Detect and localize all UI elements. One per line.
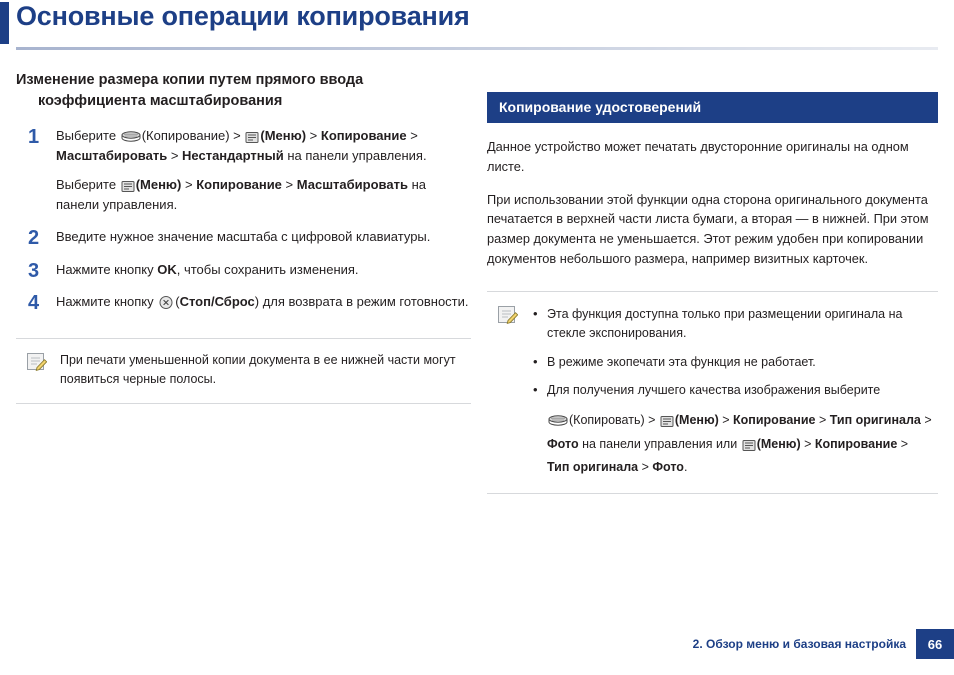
- right-note-path: (Копировать) > (Меню) > Копирование > Ти…: [547, 409, 932, 478]
- copy-icon: [548, 415, 568, 428]
- step-4: 4 Нажмите кнопку (Стоп/Сброс) для возвра…: [16, 292, 471, 312]
- step-number: 4: [28, 288, 39, 318]
- step-2: 2 Введите нужное значение масштаба с циф…: [16, 227, 471, 247]
- menu-icon: [245, 131, 259, 144]
- step-text: >: [181, 177, 196, 192]
- left-note-text: При печати уменьшенной копии документа в…: [60, 353, 456, 386]
- page-header: Основные операции копирования: [0, 0, 954, 56]
- path-text: >: [921, 413, 932, 427]
- step-text: Нажмите кнопку: [56, 294, 157, 309]
- page-title: Основные операции копирования: [16, 1, 470, 32]
- step-bold: Стоп/Сброс: [180, 294, 255, 309]
- section-subheading: Изменение размера копии путем прямого вв…: [16, 70, 471, 112]
- path-bold: Фото: [547, 437, 579, 451]
- right-paragraph-1: Данное устройство может печатать двустор…: [487, 137, 938, 177]
- step-3: 3 Нажмите кнопку OK, чтобы сохранить изм…: [16, 260, 471, 280]
- path-text: (Копировать) >: [569, 413, 659, 427]
- path-text: >: [815, 413, 829, 427]
- path-text: >: [638, 460, 652, 474]
- note-pencil-icon: [26, 351, 47, 378]
- note-pencil-icon: [497, 304, 518, 331]
- menu-icon: [121, 180, 135, 193]
- step-2-text: Введите нужное значение масштаба с цифро…: [56, 227, 471, 247]
- path-bold: Тип оригинала: [547, 460, 638, 474]
- step-1-paragraph-1: Выберите (Копирование) > (Меню) > Копиро…: [56, 126, 471, 165]
- step-bold: Нестандартный: [182, 148, 284, 163]
- step-text: >: [306, 128, 321, 143]
- path-bold: Тип оригинала: [830, 413, 921, 427]
- right-note-bullets: Эта функция доступна только при размещен…: [531, 305, 932, 479]
- step-text: на панели управления.: [284, 148, 427, 163]
- footer-chapter-label: 2. Обзор меню и базовая настройка: [693, 637, 906, 651]
- left-column: Изменение размера копии путем прямого вв…: [16, 70, 471, 404]
- left-note-box: При печати уменьшенной копии документа в…: [16, 338, 471, 405]
- path-text: на панели управления или: [579, 437, 741, 451]
- right-column: Копирование удостоверений Данное устройс…: [487, 70, 938, 494]
- step-4-text: Нажмите кнопку (Стоп/Сброс) для возврата…: [56, 292, 471, 312]
- step-bold: (Меню): [136, 177, 182, 192]
- subheading-line-2: коэффициента масштабирования: [16, 91, 471, 112]
- step-text: ) для возврата в режим готовности.: [255, 294, 469, 309]
- step-text: Выберите: [56, 128, 120, 143]
- header-accent-bar: [0, 2, 9, 44]
- step-bold: Масштабировать: [297, 177, 408, 192]
- menu-icon: [660, 415, 674, 428]
- path-bold: Копирование: [733, 413, 815, 427]
- menu-icon: [742, 439, 756, 452]
- path-text: >: [801, 437, 815, 451]
- right-note-box: Эта функция доступна только при размещен…: [487, 291, 938, 494]
- path-bold: Фото: [652, 460, 684, 474]
- step-text: >: [282, 177, 297, 192]
- path-text: >: [719, 413, 733, 427]
- list-item: Для получения лучшего качества изображен…: [531, 381, 932, 479]
- path-bold: (Меню): [675, 413, 719, 427]
- step-bold: Копирование: [196, 177, 282, 192]
- list-item: В режиме экопечати эта функция не работа…: [531, 353, 932, 372]
- step-number: 2: [28, 223, 39, 253]
- step-text: Нажмите кнопку: [56, 262, 157, 277]
- path-text: >: [897, 437, 908, 451]
- path-bold: (Меню): [757, 437, 801, 451]
- header-divider: [16, 47, 938, 50]
- step-text: >: [167, 148, 182, 163]
- step-text: Выберите: [56, 177, 120, 192]
- page-footer: 2. Обзор меню и базовая настройка 66: [0, 629, 954, 675]
- footer-page-number: 66: [916, 629, 954, 659]
- step-3-text: Нажмите кнопку OK, чтобы сохранить измен…: [56, 260, 471, 280]
- step-bold: (Меню): [260, 128, 306, 143]
- step-bold: Масштабировать: [56, 148, 167, 163]
- right-paragraph-2: При использовании этой функции одна стор…: [487, 190, 938, 269]
- path-text: .: [684, 460, 687, 474]
- step-bold: Копирование: [321, 128, 407, 143]
- step-number: 1: [28, 122, 39, 152]
- step-1-paragraph-2: Выберите (Меню) > Копирование > Масштаби…: [56, 175, 471, 214]
- path-bold: Копирование: [815, 437, 897, 451]
- step-text: , чтобы сохранить изменения.: [177, 262, 359, 277]
- section-title-id-copy: Копирование удостоверений: [487, 92, 938, 123]
- step-text: (Копирование) >: [142, 128, 245, 143]
- copy-icon: [121, 131, 141, 144]
- step-bold: OK: [157, 262, 177, 277]
- step-1: 1 Выберите (Копирование) > (Меню) > Копи…: [16, 126, 471, 214]
- stop-reset-icon: [158, 295, 174, 310]
- step-text: >: [407, 128, 418, 143]
- list-item: Эта функция доступна только при размещен…: [531, 305, 932, 344]
- step-number: 3: [28, 256, 39, 286]
- list-item-label: Для получения лучшего качества изображен…: [547, 383, 880, 397]
- subheading-line-1: Изменение размера копии путем прямого вв…: [16, 72, 363, 88]
